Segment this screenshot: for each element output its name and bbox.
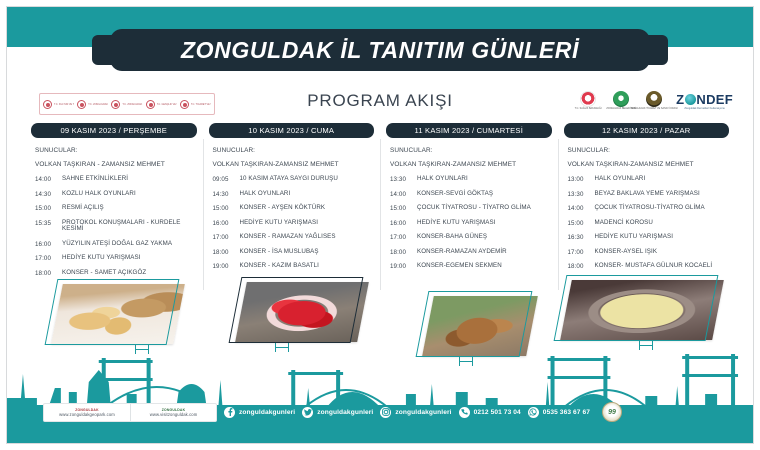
sponsor-logo: T.C. SAĞLIK BAKANLIĞI	[575, 91, 601, 111]
event-name: KONSER-BAHA GÜNEŞ	[417, 234, 487, 241]
event-row: 15:00RESMİ AÇILIŞ	[35, 205, 195, 212]
event-time: 15:00	[568, 220, 589, 227]
zondef-word-before: Z	[676, 92, 684, 107]
event-row: 15:00MADENCİ KOROSU	[568, 220, 728, 227]
event-row: 18:00KONSER - İSA MUSLUBAŞ	[213, 249, 373, 256]
photo-frame	[45, 279, 180, 345]
day-body: SUNUCULAR: VOLKAN TAŞKIRAN-ZAMANSIZ MEHM…	[209, 138, 375, 270]
event-time: 15:35	[35, 220, 56, 227]
event-name: HALK OYUNLARI	[240, 191, 291, 198]
day-header: 11 KASIM 2023 / CUMARTESİ	[386, 123, 552, 138]
photo-frame	[554, 275, 719, 341]
geopark-url: www.zonguldakgeopark.com	[59, 412, 115, 417]
health-ministry-logo-icon	[580, 91, 596, 107]
event-row: 13:00HALK OYUNLARI	[568, 176, 728, 183]
baklava-photo	[51, 279, 173, 345]
host-label: SUNUCULAR:	[568, 147, 728, 154]
event-row: 18:00KONSER-RAMAZAN AYDEMİR	[390, 249, 550, 256]
event-time: 09:05	[213, 176, 234, 183]
zondef-caption: Zonguldak Dernekleri Federasyonu	[684, 107, 725, 110]
event-name: HEDİYE KUTU YARIŞMASI	[240, 220, 319, 227]
cheese-photo	[560, 275, 712, 341]
sponsor-caption: ZONGULDAK TİCARET VE SANAYİ ODASI	[631, 108, 678, 111]
chamber-logo-icon	[646, 91, 662, 107]
event-name: RESMİ AÇILIŞ	[62, 205, 104, 212]
photo-frame	[229, 277, 364, 343]
host-name: VOLKAN TAŞKIRAN-ZAMANSIZ MEHMET	[568, 161, 728, 168]
event-time: 16:00	[390, 220, 411, 227]
contact-phone[interactable]: 0212 501 73 04	[459, 407, 521, 418]
event-name: KONSER-RAMAZAN AYDEMİR	[417, 249, 507, 256]
website-logo-group: ZONGULDAK www.zonguldakgeopark.com ZONGU…	[43, 403, 217, 422]
event-time: 17:00	[35, 255, 56, 262]
facebook-handle: zonguldakgunleri	[239, 409, 295, 416]
event-row: 15:00KONSER - AYŞEN KÖKTÜRK	[213, 205, 373, 212]
event-time: 14:30	[35, 191, 56, 198]
host-name: VOLKAN TAŞKIRAN-ZAMANSIZ MEHMET	[213, 161, 373, 168]
social-facebook[interactable]: zonguldakgunleri	[224, 407, 295, 418]
footer-contact-row: ZONGULDAK www.zonguldakgeopark.com ZONGU…	[43, 403, 622, 421]
event-row: 15:00ÇOCUK TİYATROSU - TİYATRO GLİMA	[390, 205, 550, 212]
event-time: 14:00	[390, 191, 411, 198]
event-time: 13:30	[390, 176, 411, 183]
visit-website-logo[interactable]: ZONGULDAK www.visitzonguldak.com	[130, 404, 216, 421]
event-name: ÇOCUK TİYATROSU - TİYATRO GLİMA	[417, 205, 531, 212]
event-row: 14:00KONSER-SEVGİ GÖKTAŞ	[390, 191, 550, 198]
event-name: ÇOCUK TİYATROSU-TİYATRO GLİMA	[595, 205, 705, 212]
event-row: 16:00YÜZYILIN ATEŞİ DOĞAL GAZ YAKMA	[35, 241, 195, 248]
day-body: SUNUCULAR: VOLKAN TAŞKIRAN-ZAMANSIZ MEHM…	[386, 138, 552, 270]
phone-icon	[459, 407, 470, 418]
anniversary-seal: 99	[602, 402, 622, 422]
event-name: HALK OYUNLARI	[417, 176, 468, 183]
event-name: KONSER - İSA MUSLUBAŞ	[240, 249, 319, 256]
contact-whatsapp[interactable]: 0535 363 67 67	[528, 407, 590, 418]
event-time: 17:00	[390, 234, 411, 241]
day-header: 12 KASIM 2023 / PAZAR	[564, 123, 730, 138]
host-label: SUNUCULAR:	[213, 147, 373, 154]
city-skyline-graphic	[7, 348, 753, 443]
event-time: 17:00	[568, 249, 589, 256]
event-name: 10 KASIM ATAYA SAYGI DURUŞU	[240, 176, 338, 183]
zondef-word-after: NDEF	[696, 92, 733, 107]
event-time: 18:00	[213, 249, 234, 256]
event-time: 15:00	[213, 205, 234, 212]
event-name: SAHNE ETKİNLİKLERİ	[62, 176, 128, 183]
event-name: KONSER - RAMAZAN YAĞLISES	[240, 234, 336, 241]
day-column-1: 09 KASIM 2023 / PERŞEMBE SUNUCULAR: VOLK…	[25, 123, 203, 284]
event-name: YÜZYILIN ATEŞİ DOĞAL GAZ YAKMA	[62, 241, 172, 248]
sponsor-logo: ZONGULDAK TİCARET VE SANAYİ ODASI	[641, 91, 667, 111]
event-time: 13:00	[568, 176, 589, 183]
event-row: 14:30HALK OYUNLARI	[213, 191, 373, 198]
host-name: VOLKAN TAŞKIRAN - ZAMANSIZ MEHMET	[35, 161, 195, 168]
event-row: 16:00HEDİYE KUTU YARIŞMASI	[213, 220, 373, 227]
event-time: 18:00	[390, 249, 411, 256]
strawberry-photo	[235, 277, 357, 343]
event-time: 15:00	[35, 205, 56, 212]
event-time: 15:00	[390, 205, 411, 212]
event-row: 15:35PROTOKOL KONUŞMALARI - KURDELE KESİ…	[35, 220, 195, 234]
event-row: 17:00HEDİYE KUTU YARIŞMASI	[35, 255, 195, 262]
event-row: 16:30HEDİYE KUTU YARIŞMASI	[568, 234, 728, 241]
event-time: 13:30	[568, 191, 589, 198]
title-ribbon: ZONGULDAK İL TANITIM GÜNLERİ	[100, 29, 660, 71]
zondef-logo: Z NDEF Zonguldak Dernekleri Federasyonu	[676, 92, 733, 110]
whatsapp-icon	[528, 407, 539, 418]
event-name: HEDİYE KUTU YARIŞMASI	[417, 220, 496, 227]
phone-number: 0212 501 73 04	[474, 409, 521, 416]
day-header: 10 KASIM 2023 / CUMA	[209, 123, 375, 138]
day-column-2: 10 KASIM 2023 / CUMA SUNUCULAR: VOLKAN T…	[203, 123, 381, 284]
event-name: KONSER-AYSEL IŞIK	[595, 249, 658, 256]
twitter-icon	[302, 407, 313, 418]
event-name: KOZLU HALK OYUNLARI	[62, 191, 136, 198]
social-twitter[interactable]: zonguldakgunleri	[302, 407, 373, 418]
event-row: 17:00KONSER - RAMAZAN YAĞLISES	[213, 234, 373, 241]
event-row: 14:00SAHNE ETKİNLİKLERİ	[35, 176, 195, 183]
event-row: 13:30BEYAZ BAKLAVA YEME YARIŞMASI	[568, 191, 728, 198]
poster-root: ZONGULDAK İL TANITIM GÜNLERİ T.C. KÜLTÜR…	[0, 0, 760, 450]
day-body: SUNUCULAR: VOLKAN TAŞKIRAN - ZAMANSIZ ME…	[31, 138, 197, 277]
event-time: 14:00	[568, 205, 589, 212]
host-label: SUNUCULAR:	[35, 147, 195, 154]
day-column-4: 12 KASIM 2023 / PAZAR SUNUCULAR: VOLKAN …	[558, 123, 736, 284]
event-row: 09:0510 KASIM ATAYA SAYGI DURUŞU	[213, 176, 373, 183]
zondef-globe-icon	[685, 94, 696, 105]
day-body: SUNUCULAR: VOLKAN TAŞKIRAN-ZAMANSIZ MEHM…	[564, 138, 730, 270]
event-name: BEYAZ BAKLAVA YEME YARIŞMASI	[595, 191, 700, 198]
sponsor-caption: T.C. SAĞLIK BAKANLIĞI	[575, 108, 602, 111]
host-name: VOLKAN TAŞKIRAN-ZAMANSIZ MEHMET	[390, 161, 550, 168]
event-row: 14:30KOZLU HALK OYUNLARI	[35, 191, 195, 198]
event-time: 16:00	[213, 220, 234, 227]
event-time: 14:30	[213, 191, 234, 198]
day-column-3: 11 KASIM 2023 / CUMARTESİ SUNUCULAR: VOL…	[380, 123, 558, 284]
instagram-icon	[380, 407, 391, 418]
event-row: 14:00ÇOCUK TİYATROSU-TİYATRO GLİMA	[568, 205, 728, 212]
event-row: 13:30HALK OYUNLARI	[390, 176, 550, 183]
event-name: PROTOKOL KONUŞMALARI - KURDELE KESİMİ	[62, 220, 195, 234]
event-name: MADENCİ KOROSU	[595, 220, 653, 227]
day-header: 09 KASIM 2023 / PERŞEMBE	[31, 123, 197, 138]
event-name: HEDİYE KUTU YARIŞMASI	[595, 234, 674, 241]
zondef-wordmark: Z NDEF	[676, 92, 733, 107]
geopark-website-logo[interactable]: ZONGULDAK www.zonguldakgeopark.com	[44, 404, 130, 421]
schedule-grid: 09 KASIM 2023 / PERŞEMBE SUNUCULAR: VOLK…	[25, 123, 735, 284]
instagram-handle: zonguldakgunleri	[395, 409, 451, 416]
twitter-handle: zonguldakgunleri	[317, 409, 373, 416]
facebook-icon	[224, 407, 235, 418]
event-name: HEDİYE KUTU YARIŞMASI	[62, 255, 141, 262]
event-time: 14:00	[35, 176, 56, 183]
poster-title: ZONGULDAK İL TANITIM GÜNLERİ	[181, 37, 579, 64]
event-name: HALK OYUNLARI	[595, 176, 646, 183]
host-label: SUNUCULAR:	[390, 147, 550, 154]
event-row: 17:00KONSER-BAHA GÜNEŞ	[390, 234, 550, 241]
ribbon-body: ZONGULDAK İL TANITIM GÜNLERİ	[110, 29, 650, 71]
event-time: 16:30	[568, 234, 589, 241]
event-name: KONSER-SEVGİ GÖKTAŞ	[417, 191, 493, 198]
sponsor-logo-group: T.C. SAĞLIK BAKANLIĞI ZONGULDAK BELEDİYE…	[575, 91, 733, 111]
event-row: 16:00HEDİYE KUTU YARIŞMASI	[390, 220, 550, 227]
municipality-logo-icon	[613, 91, 629, 107]
social-instagram[interactable]: zonguldakgunleri	[380, 407, 451, 418]
event-row: 17:00KONSER-AYSEL IŞIK	[568, 249, 728, 256]
event-name: KONSER - AYŞEN KÖKTÜRK	[240, 205, 326, 212]
whatsapp-number: 0535 363 67 67	[543, 409, 590, 416]
poster-page: ZONGULDAK İL TANITIM GÜNLERİ T.C. KÜLTÜR…	[6, 6, 754, 444]
event-time: 16:00	[35, 241, 56, 248]
visit-url: www.visitzonguldak.com	[150, 412, 198, 417]
event-time: 17:00	[213, 234, 234, 241]
